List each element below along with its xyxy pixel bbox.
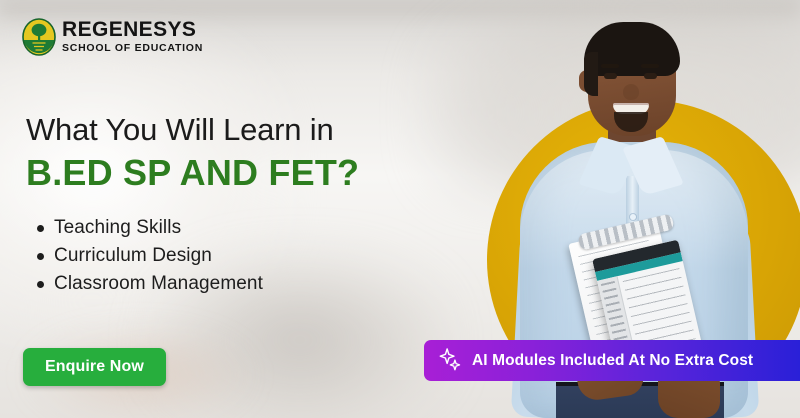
brand-name: REGENESYS — [62, 19, 203, 41]
list-item: Curriculum Design — [54, 242, 263, 270]
person-nose — [623, 84, 639, 100]
person-eye-left — [604, 73, 617, 79]
regenesys-tree-shield-icon — [22, 18, 56, 56]
enquire-now-button[interactable]: Enquire Now — [23, 348, 166, 386]
list-item: Teaching Skills — [54, 214, 263, 242]
person-eyebrow-left — [601, 64, 619, 68]
person-hair — [584, 22, 680, 76]
page-title-line-2: B.ED SP AND FET? — [26, 152, 359, 193]
feature-list: Teaching Skills Curriculum Design Classr… — [32, 214, 263, 298]
person-hair-side — [584, 52, 598, 96]
list-item: Classroom Management — [54, 270, 263, 298]
page-title-line-1: What You Will Learn in — [26, 112, 334, 147]
sparkles-icon — [438, 348, 463, 373]
ai-modules-label: AI Modules Included At No Extra Cost — [472, 352, 753, 370]
person-shirt-button — [630, 214, 636, 220]
brand-logo[interactable]: REGENESYS SCHOOL OF EDUCATION — [22, 18, 203, 56]
brand-tagline: SCHOOL OF EDUCATION — [62, 42, 203, 55]
person-eyebrow-right — [641, 64, 659, 68]
ai-modules-ribbon: AI Modules Included At No Extra Cost — [424, 340, 800, 381]
person-eye-right — [644, 73, 657, 79]
promo-banner: REGENESYS SCHOOL OF EDUCATION What You W… — [0, 0, 800, 418]
